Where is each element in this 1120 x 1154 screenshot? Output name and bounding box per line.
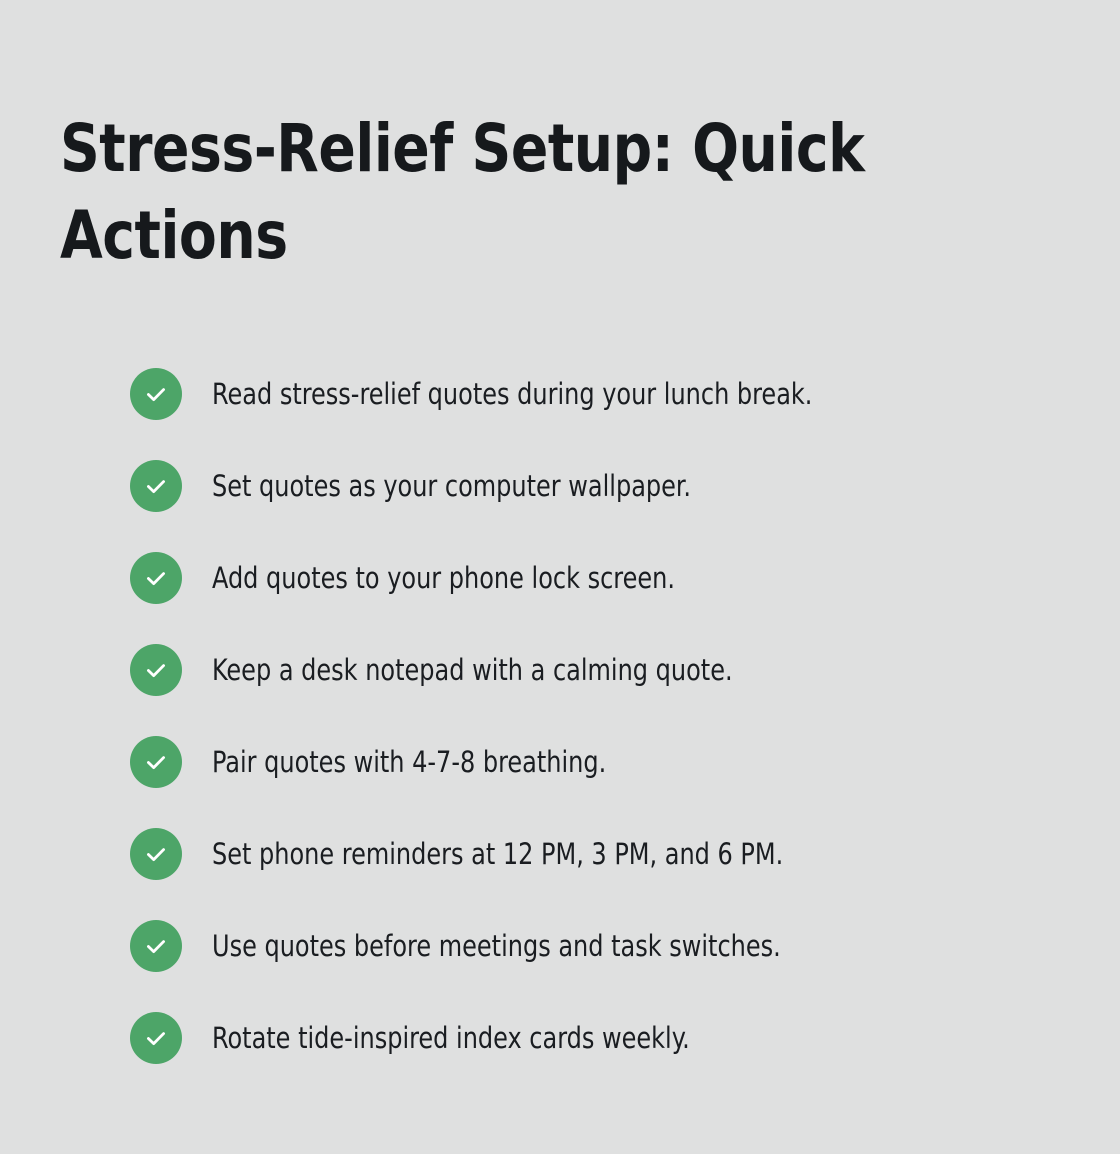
list-item-label: Read stress-relief quotes during your lu… bbox=[212, 374, 812, 414]
list-item[interactable]: Use quotes before meetings and task swit… bbox=[130, 920, 1070, 972]
check-circle-icon bbox=[130, 920, 182, 972]
check-circle-icon bbox=[130, 460, 182, 512]
check-circle-icon bbox=[130, 828, 182, 880]
page-title: Stress-Relief Setup: Quick Actions bbox=[60, 105, 878, 279]
check-circle-icon bbox=[130, 368, 182, 420]
list-item-label: Rotate tide-inspired index cards weekly. bbox=[212, 1018, 690, 1058]
quick-actions-page: Stress-Relief Setup: Quick Actions Read … bbox=[0, 0, 1120, 1154]
list-item-label: Set quotes as your computer wallpaper. bbox=[212, 466, 691, 506]
list-item-label: Add quotes to your phone lock screen. bbox=[212, 558, 675, 598]
list-item-label: Set phone reminders at 12 PM, 3 PM, and … bbox=[212, 834, 783, 874]
list-item[interactable]: Keep a desk notepad with a calming quote… bbox=[130, 644, 1070, 696]
check-circle-icon bbox=[130, 1012, 182, 1064]
list-item[interactable]: Add quotes to your phone lock screen. bbox=[130, 552, 1070, 604]
list-item-label: Pair quotes with 4-7-8 breathing. bbox=[212, 742, 606, 782]
list-item[interactable]: Set phone reminders at 12 PM, 3 PM, and … bbox=[130, 828, 1070, 880]
check-circle-icon bbox=[130, 736, 182, 788]
list-item-label: Use quotes before meetings and task swit… bbox=[212, 926, 781, 966]
list-item[interactable]: Pair quotes with 4-7-8 breathing. bbox=[130, 736, 1070, 788]
check-circle-icon bbox=[130, 552, 182, 604]
quick-actions-checklist: Read stress-relief quotes during your lu… bbox=[130, 368, 1070, 1064]
list-item[interactable]: Read stress-relief quotes during your lu… bbox=[130, 368, 1070, 420]
list-item[interactable]: Rotate tide-inspired index cards weekly. bbox=[130, 1012, 1070, 1064]
list-item-label: Keep a desk notepad with a calming quote… bbox=[212, 650, 733, 690]
check-circle-icon bbox=[130, 644, 182, 696]
list-item[interactable]: Set quotes as your computer wallpaper. bbox=[130, 460, 1070, 512]
